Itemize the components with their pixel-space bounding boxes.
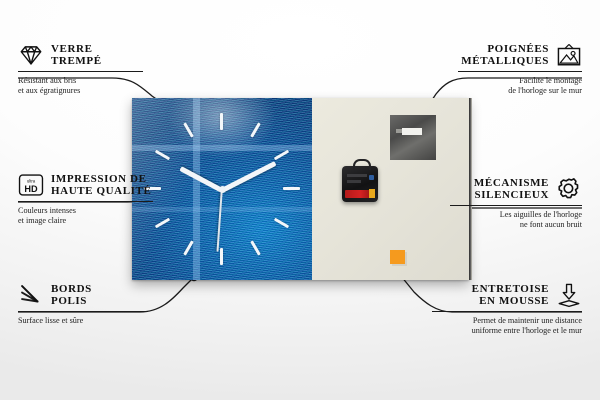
feature-verre-trempe[interactable]: VERRE TREMPÉ Résistant aux bris et aux é… [18, 42, 143, 96]
feature-subtitle: Surface lisse et sûre [18, 316, 148, 326]
diamond-icon [18, 42, 44, 68]
feature-title: VERRE TREMPÉ [51, 43, 102, 68]
infographic-canvas: VERRE TREMPÉ Résistant aux bris et aux é… [0, 0, 600, 400]
feature-poignees-metalliques[interactable]: POIGNÉES MÉTALLIQUES Facilite le montage… [458, 42, 582, 96]
clock-back-panel [312, 98, 469, 280]
feature-title: POIGNÉES MÉTALLIQUES [461, 43, 549, 68]
feature-title: ENTRETOISE EN MOUSSE [472, 283, 549, 308]
feature-entretoise-en-mousse[interactable]: ENTRETOISE EN MOUSSE Permet de maintenir… [432, 282, 582, 336]
battery [345, 190, 373, 198]
feature-subtitle: Résistant aux bris et aux égratignures [18, 76, 143, 96]
feature-header: ENTRETOISE EN MOUSSE [432, 282, 582, 308]
feature-subtitle: Facilite le montage de l'horloge sur le … [458, 76, 582, 96]
feature-title: BORDS POLIS [51, 283, 92, 308]
ultra-hd-badge-icon: ultra HD [18, 172, 44, 198]
divider [18, 201, 153, 202]
feature-mecanisme-silencieux[interactable]: MÉCANISME SILENCIEUX Les aiguilles de l'… [450, 176, 582, 230]
mechanism-hanging-loop [353, 159, 371, 170]
feature-title: IMPRESSION DE HAUTE QUALITÉ [51, 173, 151, 198]
tick-mark [220, 248, 223, 265]
feature-subtitle: Couleurs intenses et image claire [18, 206, 153, 226]
mechanism-terminal [369, 175, 374, 180]
hand-pivot [219, 186, 226, 193]
hanger-slot [402, 128, 422, 135]
feature-header: BORDS POLIS [18, 282, 148, 308]
tick-mark [220, 113, 223, 130]
feature-impression-haute-qualite[interactable]: ultra HD IMPRESSION DE HAUTE QUALITÉ Cou… [18, 172, 153, 226]
feature-bords-polis[interactable]: BORDS POLIS Surface lisse et sûre [18, 282, 148, 326]
feature-subtitle: Permet de maintenir une distance uniform… [432, 316, 582, 336]
ultra-hd-label: HD [24, 184, 38, 194]
feature-header: ultra HD IMPRESSION DE HAUTE QUALITÉ [18, 172, 153, 198]
divider [432, 311, 582, 312]
ultra-hd-small-label: ultra [27, 179, 36, 184]
metal-hanger-plate [390, 115, 436, 160]
feature-title: MÉCANISME SILENCIEUX [474, 177, 549, 202]
tick-mark [283, 187, 300, 190]
mechanism-label-line [347, 174, 367, 177]
clock-front-face [132, 98, 312, 280]
feature-header: VERRE TREMPÉ [18, 42, 143, 68]
divider [18, 311, 148, 312]
divider [458, 71, 582, 72]
product-photo [132, 98, 469, 280]
foam-spacer [390, 250, 405, 264]
feature-header: MÉCANISME SILENCIEUX [450, 176, 582, 202]
divider [450, 205, 582, 206]
divider [18, 71, 143, 72]
mechanism-label-line-2 [347, 180, 361, 183]
gear-icon [556, 176, 582, 202]
battery-positive-tip [369, 189, 375, 198]
clock-mechanism [342, 166, 378, 202]
polished-edges-icon [18, 282, 44, 308]
feature-header: POIGNÉES MÉTALLIQUES [458, 42, 582, 68]
picture-frame-hanger-icon [556, 42, 582, 68]
arrow-down-spacer-icon [556, 282, 582, 308]
feature-subtitle: Les aiguilles de l'horloge ne font aucun… [450, 210, 582, 230]
